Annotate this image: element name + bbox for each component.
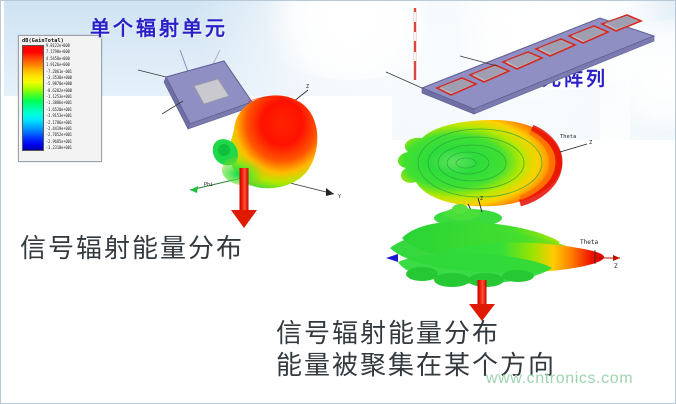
legend-tick-list: 9.8122e+0007.1790e+0004.5458e+0001.9126e… <box>44 45 99 151</box>
legend-tick-14: -2.7052e+001 <box>46 134 99 138</box>
legend-tick-13: -2.4419e+001 <box>46 128 99 132</box>
antenna-tower-icon <box>408 8 422 80</box>
legend-tick-4: -7.2061e-001 <box>46 70 99 74</box>
svg-text:Theta: Theta <box>580 239 598 246</box>
svg-text:Y: Y <box>338 194 341 198</box>
legend-tick-15: -2.9685e+001 <box>46 140 99 144</box>
legend-tick-2: 4.5458e+000 <box>46 57 99 61</box>
caption-left: 信号辐射能量分布 <box>20 228 244 265</box>
legend-tick-12: -2.1786e+001 <box>46 121 99 125</box>
svg-text:Z: Z <box>614 263 618 270</box>
array-pattern-side-svg: Z Theta Z <box>382 196 622 296</box>
legend-tick-5: -3.3538e+000 <box>46 77 99 81</box>
arrow-shaft <box>240 168 249 212</box>
array-patch-model <box>382 10 672 122</box>
title-single-element: 单个辐射单元 <box>90 12 228 41</box>
plot-array-pattern-side: Z Theta Z <box>382 196 622 296</box>
site-watermark: www.cntronics.com <box>486 370 633 388</box>
legend-body: 9.8122e+0007.1790e+0004.5458e+0001.9126e… <box>19 45 101 155</box>
svg-text:Phi: Phi <box>204 182 213 188</box>
svg-text:Z: Z <box>480 196 483 202</box>
antenna-tower-svg <box>408 8 422 80</box>
arrow-head <box>231 210 257 228</box>
legend-tick-7: -8.6202e+000 <box>46 89 99 93</box>
legend-tick-11: -1.9153e+001 <box>46 115 99 119</box>
legend-tick-9: -1.3886e+001 <box>46 102 99 106</box>
svg-text:Z: Z <box>589 140 593 146</box>
slide-canvas: dB(GainTotal) 9.8122e+0007.1790e+0004.54… <box>0 0 676 404</box>
plot-single-element-pattern: Z Phi Y <box>176 78 356 198</box>
array-patch-svg <box>382 10 672 122</box>
legend-tick-16: -3.2318e+001 <box>46 147 99 151</box>
legend-tick-10: -1.6520e+001 <box>46 108 99 112</box>
svg-text:Z: Z <box>306 84 309 90</box>
legend-tick-0: 9.8122e+000 <box>46 45 99 49</box>
legend-tick-1: 7.1790e+000 <box>46 51 99 55</box>
gain-legend: dB(GainTotal) 9.8122e+0007.1790e+0004.54… <box>18 35 102 162</box>
legend-tick-6: -5.9870e+000 <box>46 83 99 87</box>
arrow-down-left <box>228 168 260 228</box>
arrow-shaft <box>478 280 487 306</box>
left-edge-strip <box>0 0 4 404</box>
legend-tick-3: 1.9126e+000 <box>46 64 99 68</box>
single-element-pattern-svg: Z Phi Y <box>176 78 356 198</box>
legend-colorbar <box>22 45 44 151</box>
svg-text:Theta: Theta <box>560 134 576 140</box>
legend-tick-8: -1.1253e+001 <box>46 96 99 100</box>
